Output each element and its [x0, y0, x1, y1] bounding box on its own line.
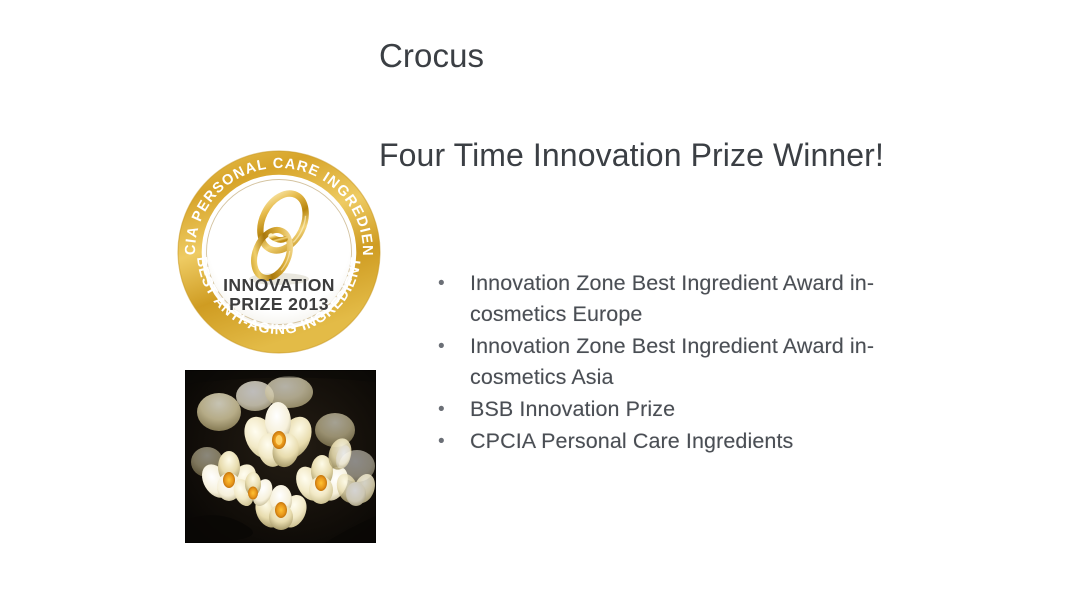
- list-item: • Innovation Zone Best Ingredient Award …: [432, 331, 902, 393]
- list-item: • BSB Innovation Prize: [432, 394, 902, 425]
- list-item: • Innovation Zone Best Ingredient Award …: [432, 268, 902, 330]
- seal-center-line-1: INNOVATION: [223, 275, 335, 295]
- list-item-label: CPCIA Personal Care Ingredients: [470, 426, 902, 457]
- list-item-label: Innovation Zone Best Ingredient Award in…: [470, 268, 902, 330]
- bullet-icon: •: [432, 394, 470, 425]
- page-title: Crocus: [379, 36, 484, 76]
- award-seal-badge: CPCIA PERSONAL CARE INGREDIENTS BEST ANT…: [175, 148, 383, 356]
- list-item: • CPCIA Personal Care Ingredients: [432, 426, 902, 457]
- bullet-icon: •: [432, 426, 470, 457]
- bullet-icon: •: [432, 268, 470, 299]
- bullet-icon: •: [432, 331, 470, 362]
- award-list: • Innovation Zone Best Ingredient Award …: [432, 268, 902, 458]
- seal-center-line-2: PRIZE 2013: [229, 294, 329, 314]
- crocus-flowers-photo: [185, 370, 376, 543]
- slide-subtitle: Four Time Innovation Prize Winner!: [379, 136, 884, 174]
- list-item-label: BSB Innovation Prize: [470, 394, 902, 425]
- list-item-label: Innovation Zone Best Ingredient Award in…: [470, 331, 902, 393]
- slide-canvas: Crocus Four Time Innovation Prize Winner…: [0, 0, 1083, 609]
